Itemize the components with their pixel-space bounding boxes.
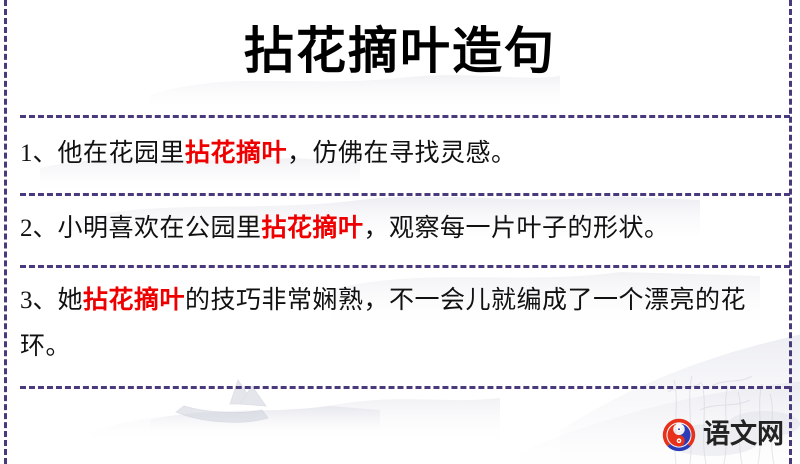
site-logo-text: 语文网 [703,420,784,450]
list-item: 3、她拈花摘叶的技巧非常娴熟，不一会儿就编成了一个漂亮的花环。 [0,265,800,386]
sentence-text-after: ，仿佛在寻找灵感。 [287,140,517,167]
sentence-text-before: 他在花园里 [58,140,186,167]
sentence-text-before: 小明喜欢在公园里 [58,215,262,242]
highlighted-idiom: 拈花摘叶 [185,140,287,167]
sentence-number: 3、 [20,287,58,314]
page-title: 拈花摘叶造句 [0,20,800,82]
yinyang-circle-icon [661,417,697,453]
list-item: 2、小明喜欢在公园里拈花摘叶，观察每一片叶子的形状。 [0,193,800,265]
highlighted-idiom: 拈花摘叶 [83,287,185,314]
site-logo[interactable]: 语文网 [661,415,784,455]
sentence-list: 1、他在花园里拈花摘叶，仿佛在寻找灵感。 2、小明喜欢在公园里拈花摘叶，观察每一… [0,115,800,386]
sentence-number: 2、 [20,215,58,242]
list-item: 1、他在花园里拈花摘叶，仿佛在寻找灵感。 [0,115,800,193]
page-canvas: 拈花摘叶造句 1、他在花园里拈花摘叶，仿佛在寻找灵感。 2、小明喜欢在公园里拈花… [0,0,800,464]
sentence-text-before: 她 [58,287,84,314]
highlighted-idiom: 拈花摘叶 [262,215,364,242]
sentence-text-after: ，观察每一片叶子的形状。 [364,215,670,242]
divider-below-sentence-3 [20,386,790,389]
sentence-number: 1、 [20,140,58,167]
